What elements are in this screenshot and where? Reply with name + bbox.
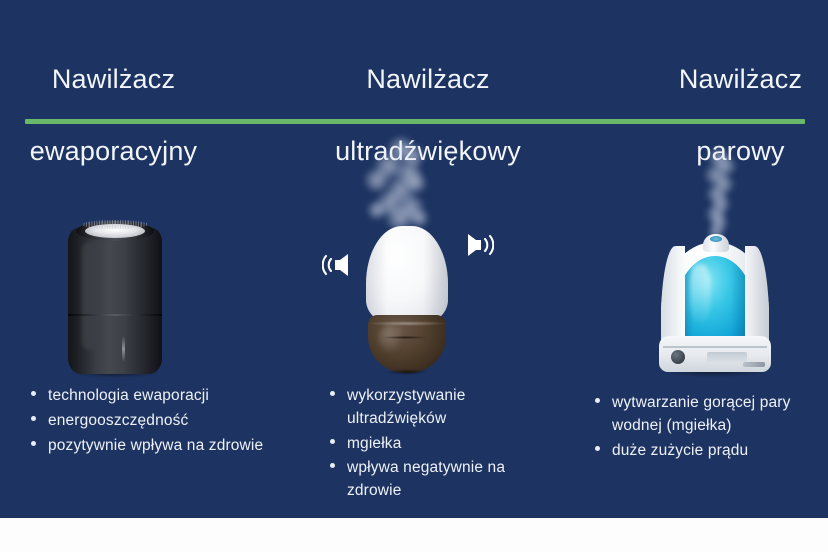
bullet-list-ultrasonic: wykorzystywanie ultradźwięków mgiełka wp…	[327, 385, 537, 505]
list-item: wytwarzanie gorącej pary wodnej (mgiełka…	[592, 392, 822, 438]
base-highlight	[378, 324, 404, 354]
bullet-dot-icon	[31, 441, 36, 446]
bullet-dot-icon	[330, 439, 335, 444]
body-highlight	[82, 242, 98, 350]
list-item: energooszczędność	[28, 410, 278, 433]
list-item-label: wykorzystywanie ultradźwięków	[347, 387, 466, 427]
brand-label	[707, 352, 747, 362]
list-item: mgiełka	[327, 433, 537, 456]
bullet-dot-icon	[330, 391, 335, 396]
heading-line-1: Nawilżacz	[648, 62, 828, 98]
bullet-dot-icon	[330, 463, 335, 468]
bullet-dot-icon	[595, 398, 600, 403]
list-item: technologia ewaporacji	[28, 385, 278, 408]
shell-base-seam	[367, 321, 447, 326]
steam-plume	[679, 148, 759, 244]
list-item: wykorzystywanie ultradźwięków	[327, 385, 537, 431]
base-vent	[743, 362, 765, 367]
bottom-white-strip	[0, 518, 828, 552]
infographic-navy-panel: Nawilżacz ewaporacyjny Nawilżacz ultradź…	[0, 0, 828, 518]
heading-line-1: Nawilżacz	[318, 62, 538, 98]
list-item-label: technologia ewaporacji	[48, 387, 209, 404]
upper-shell-shading	[366, 226, 448, 326]
bullet-dot-icon	[31, 416, 36, 421]
column-heading-evaporative: Nawilżacz ewaporacyjny	[6, 26, 221, 206]
body-seam	[68, 314, 162, 316]
list-item-label: energooszczędność	[48, 412, 188, 429]
product-image-ultrasonic-humidifier	[352, 140, 462, 380]
bullet-list-evaporative: technologia ewaporacji energooszczędność…	[28, 385, 278, 459]
product-shadow	[386, 369, 428, 375]
list-item-label: duże zużycie prądu	[612, 442, 748, 459]
list-item: pozytywnie wpływa na zdrowie	[28, 435, 278, 458]
product-image-evaporative-humidifier	[60, 218, 170, 378]
indicator-light	[122, 336, 125, 362]
list-item-label: wytwarzanie gorącej pary wodnej (mgiełka…	[612, 394, 790, 434]
product-image-steam-humidifier	[645, 160, 785, 380]
steam-outlet	[710, 236, 722, 242]
humidifier-comparison-infographic: Nawilżacz ewaporacyjny Nawilżacz ultradź…	[0, 0, 828, 552]
list-item: duże zużycie prądu	[592, 440, 822, 463]
base-seam	[663, 346, 767, 348]
bullet-list-steam: wytwarzanie gorącej pary wodnej (mgiełka…	[592, 392, 822, 464]
top-grill	[82, 220, 148, 229]
list-item-label: pozytywnie wpływa na zdrowie	[48, 437, 263, 454]
heading-line-2: ewaporacyjny	[6, 134, 221, 170]
control-knob	[671, 350, 685, 364]
base-groove	[382, 336, 428, 339]
list-item: wpływa negatywnie na zdrowie	[327, 457, 537, 503]
list-item-label: mgiełka	[347, 435, 401, 452]
speaker-wave-icon-right	[450, 228, 494, 262]
green-divider-rule	[25, 119, 805, 124]
bullet-dot-icon	[31, 391, 36, 396]
bullet-dot-icon	[595, 446, 600, 451]
speaker-wave-icon-left	[322, 248, 366, 282]
list-item-label: wpływa negatywnie na zdrowie	[347, 459, 505, 499]
heading-line-1: Nawilżacz	[6, 62, 221, 98]
